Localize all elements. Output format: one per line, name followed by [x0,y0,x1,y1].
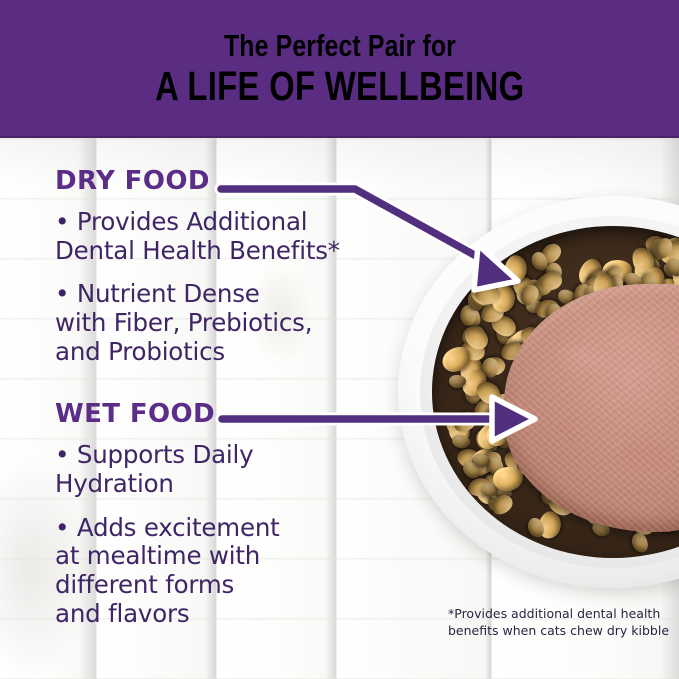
footnote-disclaimer: *Provides additional dental health benef… [448,606,678,639]
section-spacer [55,381,400,401]
bullet-dry-2-line3: and Probiotics [55,337,225,366]
bullet-dry-1: • Provides Additional Dental Health Bene… [55,208,400,265]
bullet-dry-2-line1: • Nutrient Dense [55,279,260,308]
bullet-wet-2-line3: different forms [55,570,234,599]
promo-image: The Perfect Pair for A LIFE OF WELLBEING… [0,0,679,679]
bullet-wet-1-line1: • Supports Daily [55,440,253,469]
bullet-wet-2: • Adds excitement at mealtime with diffe… [55,514,400,629]
header-banner: The Perfect Pair for A LIFE OF WELLBEING [0,0,679,138]
bowl-interior [432,226,679,558]
bullet-wet-2-line2: at mealtime with [55,541,260,570]
copy-block: DRY FOOD • Provides Additional Dental He… [55,168,400,643]
bullet-dry-2-line2: with Fiber, Prebiotics, [55,308,312,337]
bullet-wet-2-line4: and flavors [55,599,189,628]
section-heading-dry-food: DRY FOOD [55,168,400,194]
bullet-wet-1: • Supports Daily Hydration [55,441,400,498]
food-bowl-photo [398,196,679,596]
footnote-line-1: *Provides additional dental health [448,606,678,623]
header-title: A LIFE OF WELLBEING [155,65,524,108]
bullet-dry-1-line2: Dental Health Benefits* [55,236,340,265]
footnote-line-2: benefits when cats chew dry kibble [448,623,678,640]
section-heading-wet-food: WET FOOD [55,401,400,427]
bullet-wet-1-line2: Hydration [55,469,174,498]
bullet-wet-2-line1: • Adds excitement [55,513,280,542]
bullet-dry-1-line1: • Provides Additional [55,207,307,236]
header-subtitle: The Perfect Pair for [223,30,455,63]
bullet-dry-2: • Nutrient Dense with Fiber, Prebiotics,… [55,280,400,366]
